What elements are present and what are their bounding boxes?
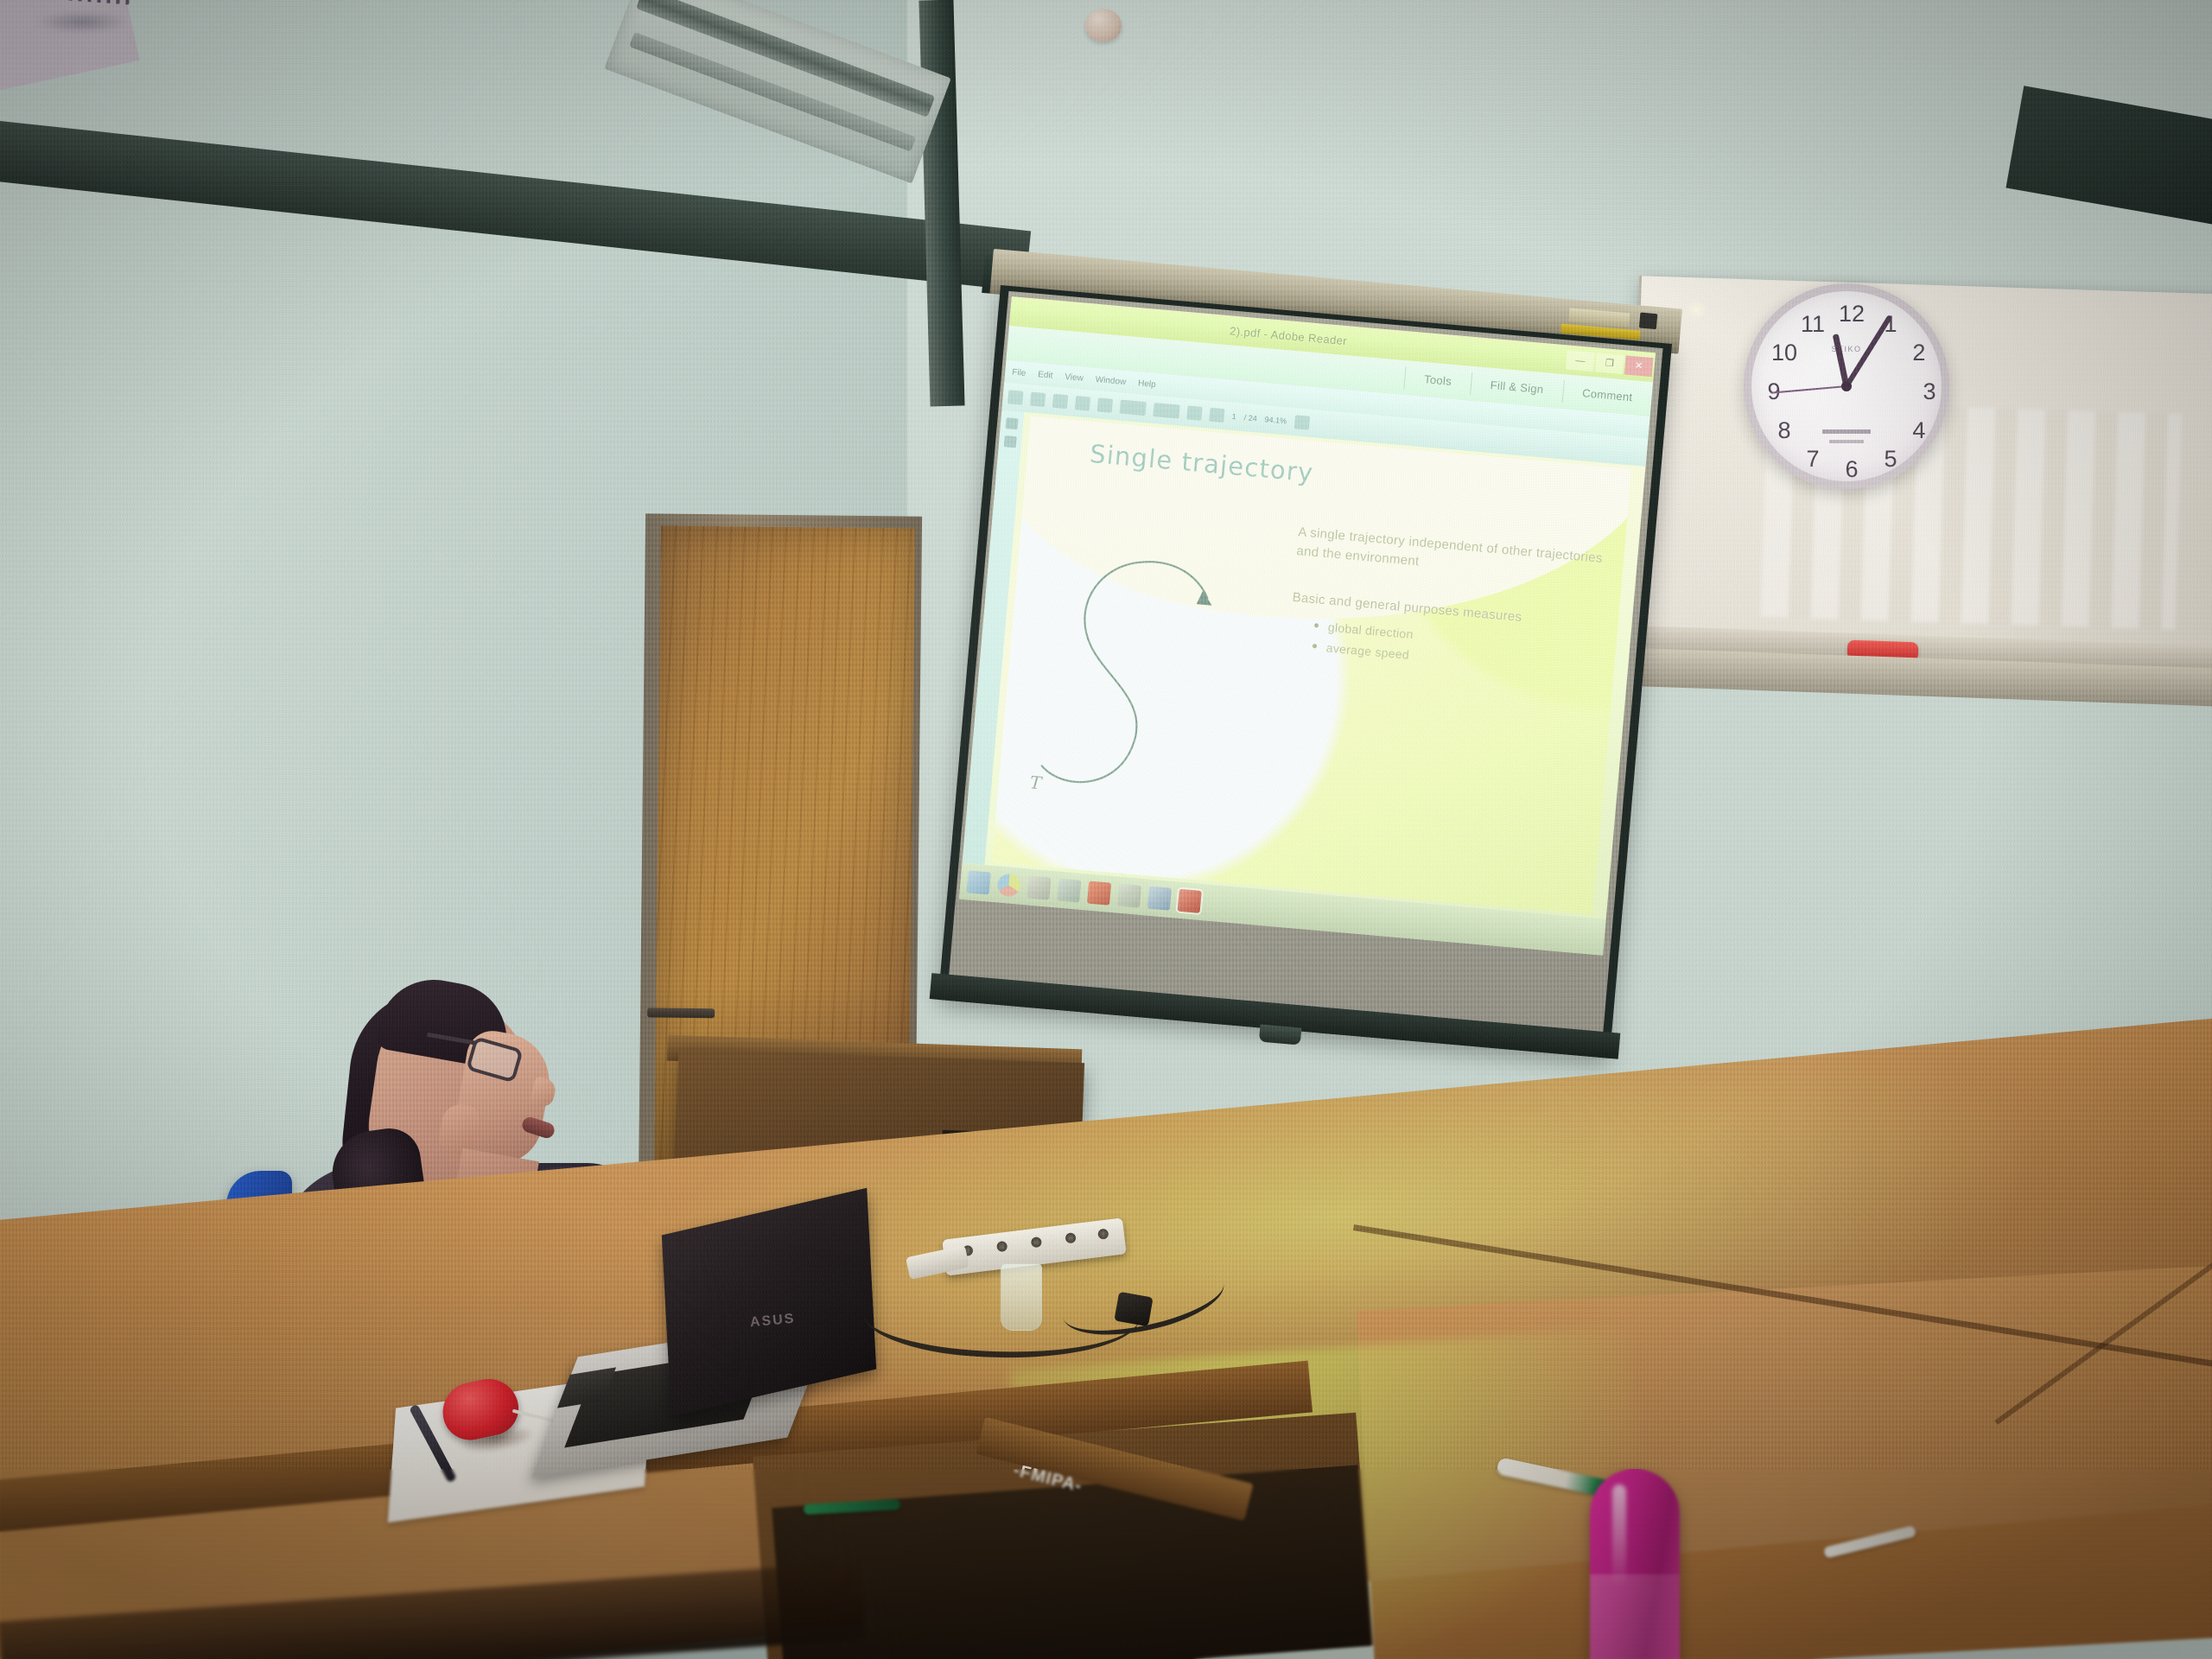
- photo-texture: [0, 0, 2212, 1659]
- seminar-room-photo: 121234567891011 SEIKO 2).pdf - Adobe Rea…: [0, 0, 2212, 1659]
